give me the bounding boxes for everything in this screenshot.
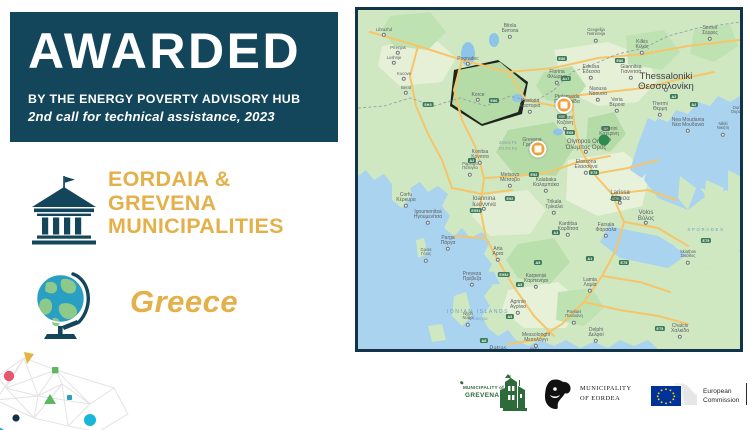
route-shield: E92	[529, 172, 539, 177]
node-circle-navy	[12, 414, 19, 421]
map-city-label-gr: Αίγιο	[529, 351, 538, 352]
poster-root: AWARDED BY THE ENERGY POVERTY ADVISORY H…	[0, 0, 750, 430]
route-shield: E90	[557, 114, 567, 119]
node-square-blue	[67, 395, 72, 400]
network-constellation-graphic	[0, 348, 134, 430]
banner-subtitle-org: BY THE ENERGY POVERTY ADVISORY HUB	[28, 92, 320, 106]
route-shield: A2	[468, 158, 476, 163]
route-shield: A5	[506, 314, 514, 319]
map-city-dot	[742, 117, 743, 121]
svg-text:MUNICIPALITY: MUNICIPALITY	[580, 385, 632, 392]
city-hall-icon	[30, 174, 100, 246]
globe-icon	[33, 268, 99, 340]
grevena-municipality-logo: MUNICIPALITY of GREVENA	[455, 374, 543, 414]
municipality-name-line2: GREVENA	[108, 192, 370, 216]
route-shield: A1	[586, 256, 594, 261]
municipality-name-line3: MUNICIPALITIES	[108, 215, 370, 239]
svg-text:MUNICIPALITY of: MUNICIPALITY of	[463, 385, 504, 390]
svg-text:GREVENA: GREVENA	[465, 392, 499, 399]
route-shield: A2	[602, 126, 610, 131]
eordea-municipality-logo: MUNICIPALITY OF EORDEA	[540, 376, 650, 412]
route-shield: E75	[655, 326, 665, 331]
svg-text:European: European	[703, 388, 732, 395]
svg-text:Commission: Commission	[703, 397, 740, 404]
route-shield: E951	[470, 208, 482, 213]
route-shield: E952	[498, 272, 510, 277]
footer-logo-strip: MUNICIPALITY of GREVENA MUNICIPALITY	[440, 372, 750, 420]
page-title: AWARDED	[28, 22, 320, 80]
route-shield: A27	[561, 76, 571, 81]
route-shield: A5	[534, 260, 542, 265]
node-triangle-green	[44, 394, 56, 404]
municipality-name: EORDAIA & GREVENA MUNICIPALITIES	[108, 168, 370, 239]
route-shield: A3	[552, 230, 560, 235]
node-square-green	[52, 367, 58, 373]
route-shield: E86	[489, 98, 499, 103]
country-name: Greece	[130, 284, 238, 320]
municipality-row: EORDAIA & GREVENA MUNICIPALITIES	[30, 170, 350, 250]
route-shield: E86	[557, 56, 567, 61]
node-circle-red	[4, 371, 14, 381]
route-shield: A2	[690, 102, 698, 107]
map-basemap	[358, 10, 740, 349]
route-shield: A8	[480, 338, 488, 343]
route-shield: E75	[619, 260, 629, 265]
awarded-site-marker-ptolemaida[interactable]	[556, 97, 573, 114]
route-shield: E75	[701, 238, 711, 243]
route-shield: A5	[516, 282, 524, 287]
route-shield: E75	[589, 170, 599, 175]
awarded-site-marker-grevena[interactable]	[530, 141, 547, 158]
awarded-banner: AWARDED BY THE ENERGY POVERTY ADVISORY H…	[10, 12, 338, 142]
node-circle-cyan-big	[84, 414, 96, 426]
municipality-name-line1: EORDAIA &	[108, 168, 370, 192]
banner-subtitle-call: 2nd call for technical assistance, 2023	[28, 109, 320, 124]
left-info-panel: AWARDED BY THE ENERGY POVERTY ADVISORY H…	[0, 0, 350, 430]
european-commission-logo: European Commission	[645, 377, 750, 411]
map-panel[interactable]: E86 E86 E86 SH3 A27 E65 A2 A2 E90 E75 E9…	[355, 7, 743, 352]
route-shield: SH3	[423, 102, 434, 107]
country-row: Greece	[30, 268, 350, 348]
route-shield: E65	[565, 130, 575, 135]
route-shield: E86	[615, 58, 625, 63]
route-shield: A2	[670, 94, 678, 99]
park-pin-icon	[599, 135, 610, 146]
svg-text:OF EORDEA: OF EORDEA	[580, 395, 620, 402]
route-shield: E92	[505, 196, 515, 201]
